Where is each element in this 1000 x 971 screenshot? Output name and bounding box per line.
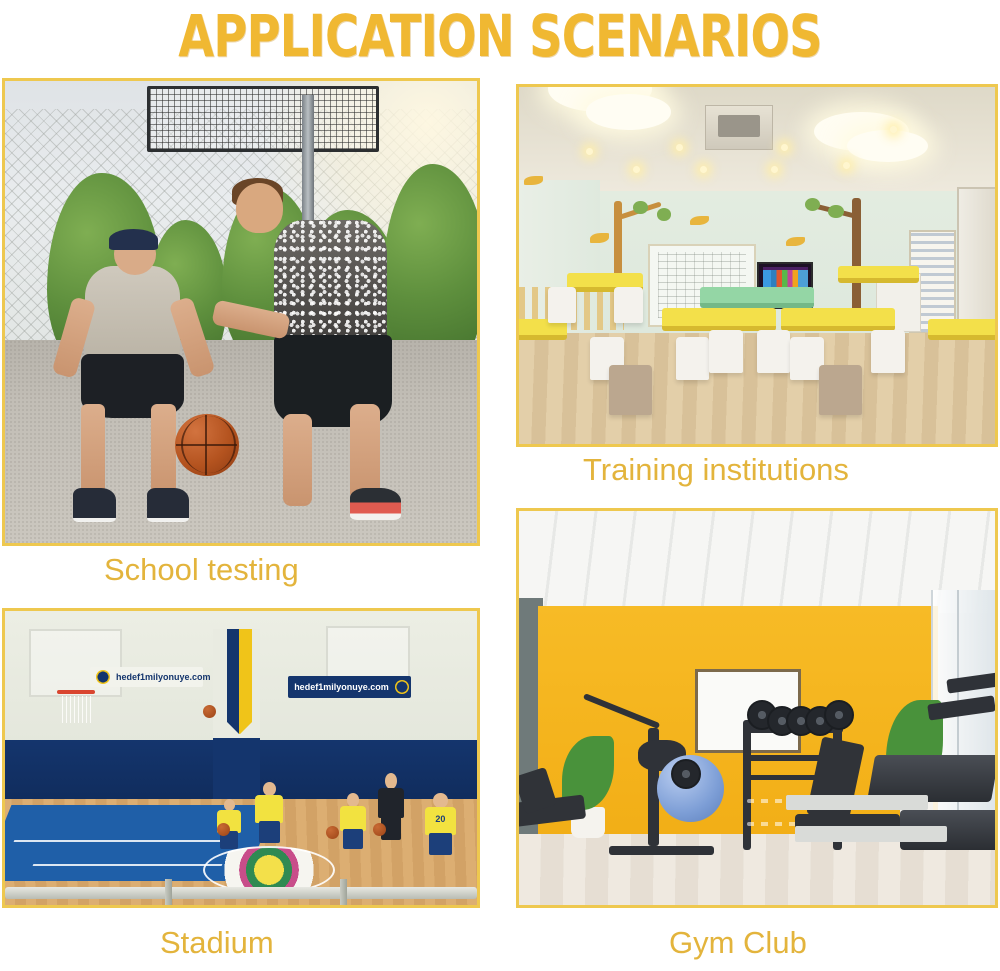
wall-banner: hedef1milyonuye.com: [288, 676, 411, 698]
scenario-image-stadium: hedef1milyonuye.com hedef1milyonuye.com: [2, 608, 480, 908]
caption-gym-club: Gym Club: [669, 925, 807, 961]
page-title: APPLICATION SCENARIOS: [100, 0, 900, 72]
sneaker: [147, 488, 189, 522]
weight-plate: [824, 700, 854, 730]
caption-stadium: Stadium: [160, 925, 274, 961]
court-line: [33, 864, 223, 866]
child-chair: [819, 365, 862, 415]
hoop-rim: [57, 690, 95, 694]
scenario-image-gym-club: [516, 508, 998, 908]
banner-text: hedef1milyonuye.com: [116, 672, 211, 682]
player-legs: [259, 821, 281, 843]
classroom-table: [662, 308, 776, 331]
basketball: [175, 414, 239, 476]
leaf-decal: [828, 205, 843, 218]
player-jersey: [255, 795, 283, 823]
leaf-decal: [805, 198, 820, 211]
basketball-seam: [181, 416, 236, 473]
spotlight: [633, 166, 640, 173]
coach-shirt: [378, 788, 404, 818]
classroom-table: [838, 266, 919, 284]
weight-rack-post: [743, 720, 752, 850]
classroom-table: [781, 308, 895, 331]
basketball: [326, 826, 339, 839]
player-dribbler-leg: [283, 414, 311, 506]
wall-banner: hedef1milyonuye.com: [90, 667, 203, 688]
indoor-gym-scene: hedef1milyonuye.com hedef1milyonuye.com: [5, 611, 477, 905]
child-chair: [676, 337, 709, 380]
leaf-decal: [657, 208, 671, 220]
leaf-decal: [633, 201, 647, 213]
treadmill-belt: [795, 826, 947, 842]
coach-head: [385, 773, 397, 789]
scenario-image-training-institutions: [516, 84, 998, 447]
basketball: [217, 823, 230, 836]
child-chair: [709, 330, 742, 373]
player-dribbler-head: [236, 183, 283, 234]
fitness-studio-scene: [519, 511, 995, 905]
rail-post: [340, 879, 347, 905]
player-defender-leg: [81, 404, 106, 496]
club-logo-icon: [395, 680, 409, 694]
classroom-table-green: [700, 287, 814, 308]
spotlight: [700, 166, 707, 173]
hoop-net: [62, 696, 93, 722]
player-legs: [343, 829, 363, 849]
club-logo-icon: [96, 670, 110, 684]
club-pennant: [227, 629, 252, 735]
jersey-number: 20: [425, 814, 456, 824]
spotlight: [586, 148, 593, 155]
player-child: [340, 793, 366, 849]
player-defender-leg: [151, 404, 176, 496]
panel-ceiling: [519, 511, 995, 613]
caption-training-institutions: Training institutions: [583, 452, 849, 488]
player-child-number-20: 20: [425, 793, 456, 855]
outdoor-basketball-scene: [5, 81, 477, 543]
rail-post: [165, 879, 172, 905]
backwards-cap: [109, 229, 159, 250]
child-chair: [548, 287, 577, 323]
player-jersey: [340, 806, 366, 831]
spotlight: [843, 162, 850, 169]
scenario-image-school-testing: [2, 78, 480, 546]
child-chair: [871, 330, 904, 373]
spotlight: [781, 144, 788, 151]
player-child: [255, 782, 283, 844]
child-chair: [614, 287, 643, 323]
basketball: [373, 823, 386, 836]
banner-text: hedef1milyonuye.com: [294, 682, 389, 692]
spotlight: [771, 166, 778, 173]
player-legs: [429, 833, 452, 855]
player-head: [347, 793, 359, 806]
player-dribbler-torso: [274, 220, 387, 349]
player-dribbler-leg: [350, 404, 380, 501]
cloud-ceiling-light: [586, 94, 672, 130]
air-conditioner-vent: [705, 105, 774, 150]
child-chair: [757, 330, 790, 373]
caption-school-testing: School testing: [104, 552, 299, 588]
basketball-backboard: [147, 86, 380, 152]
player-defender-torso: [85, 266, 179, 368]
safety-rail: [5, 887, 477, 899]
red-sneaker: [350, 488, 402, 520]
treadmill-belt: [786, 795, 929, 811]
classroom-table: [928, 319, 998, 340]
cloud-ceiling-light: [847, 130, 928, 162]
player-head: [263, 782, 277, 797]
player-head: [433, 793, 448, 808]
cable-machine-base: [609, 846, 714, 855]
classroom-scene: [519, 87, 995, 444]
sneaker: [73, 488, 115, 522]
child-chair: [609, 365, 652, 415]
